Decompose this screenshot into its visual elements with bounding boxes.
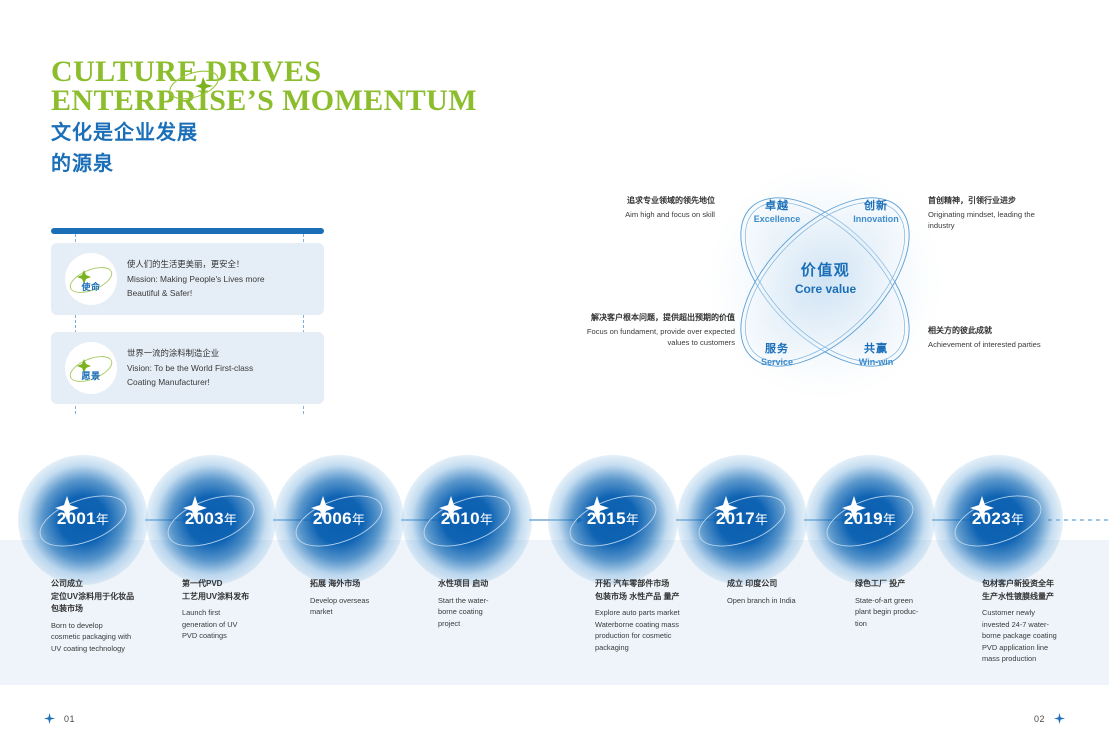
title-chinese-line-2: 的源泉 <box>51 152 477 177</box>
timeline-desc-2003: 第一代PVD工艺用UV涂料发布 Launch firstgeneration o… <box>182 578 292 642</box>
quadrant-winwin-en: Win-win <box>839 357 913 368</box>
title-chinese-line-1: 文化是企业发展 <box>51 121 477 146</box>
mission-badge-label: 使命 <box>65 280 117 293</box>
quadrant-service-en: Service <box>740 357 814 368</box>
quadrant-innovation-en: Innovation <box>839 214 913 225</box>
timeline-desc-2015-en: Explore auto parts marketWaterborne coat… <box>595 607 717 653</box>
timeline-desc-2019: 绿色工厂 投产 State-of-art greenplant begin pr… <box>855 578 965 629</box>
core-value-center: 价值观 Core value <box>718 259 933 296</box>
vision-card[interactable]: 愿景 世界一流的涂料制造企业 Vision: To be the World F… <box>51 332 324 404</box>
timeline-desc-2001-cn: 公司成立定位UV涂料用于化妆品包装市场 <box>51 578 161 616</box>
mission-card[interactable]: 使命 使人们的生活更美丽，更安全！ Mission: Making People… <box>51 243 324 315</box>
company-timeline: 2001年 2003年 2006年 2010年 <box>0 455 1109 585</box>
timeline-year-2017: 2017年 <box>677 509 807 529</box>
note-bottom-right-cn: 相关方的彼此成就 <box>928 325 1073 337</box>
mission-text: 使人们的生活更美丽，更安全！ Mission: Making People's … <box>127 257 265 301</box>
timeline-node-2015[interactable]: 2015年 <box>548 455 678 585</box>
timeline-node-2017[interactable]: 2017年 <box>677 455 807 585</box>
timeline-node-2019[interactable]: 2019年 <box>805 455 935 585</box>
mission-text-en-1: Mission: Making People's Lives more <box>127 272 265 287</box>
quadrant-excellence: 卓越 Excellence <box>740 200 814 225</box>
quadrant-innovation-cn: 创新 <box>839 200 913 214</box>
timeline-desc-2019-cn: 绿色工厂 投产 <box>855 578 965 591</box>
timeline-desc-2006-en: Develop overseasmarket <box>310 595 420 618</box>
page-footer: 01 02 <box>0 685 1109 755</box>
timeline-desc-2017: 成立 印度公司 Open branch in India <box>727 578 837 606</box>
timeline-desc-2023: 包材客户新投资全年生产水性镀膜线量产 Customer newlyinveste… <box>982 578 1092 665</box>
quadrant-winwin: 共赢 Win-win <box>839 343 913 368</box>
quadrant-innovation: 创新 Innovation <box>839 200 913 225</box>
timeline-year-2015: 2015年 <box>548 509 678 529</box>
timeline-desc-2003-en: Launch firstgeneration of UVPVD coatings <box>182 607 292 642</box>
timeline-desc-2015: 开拓 汽车零部件市场包装市场 水性产品 量产 Explore auto part… <box>595 578 717 653</box>
vision-text-en-1: Vision: To be the World First-class <box>127 361 253 376</box>
quadrant-service-cn: 服务 <box>740 343 814 357</box>
quadrant-excellence-cn: 卓越 <box>740 200 814 214</box>
timeline-desc-2006: 拓展 海外市场 Develop overseasmarket <box>310 578 420 618</box>
note-top-left-cn: 追求专业领域的领先地位 <box>585 195 715 207</box>
note-bottom-left-en: Focus on fundament, provide over expecte… <box>587 327 735 348</box>
page-title: CULTURE DRIVES ENTERPRISE’S MOMENTUM 文化是… <box>51 57 477 177</box>
vision-orbit-icon: 愿景 <box>65 342 117 394</box>
timeline-desc-2017-en: Open branch in India <box>727 595 837 607</box>
timeline-desc-2023-en: Customer newlyinvested 24-7 water-borne … <box>982 607 1092 665</box>
footer-page-left: 01 <box>64 714 75 724</box>
note-bottom-right-en: Achievement of interested parties <box>928 340 1041 349</box>
note-top-left: 追求专业领域的领先地位 Aim high and focus on skill <box>585 195 715 220</box>
note-bottom-left-cn: 解决客户根本问题，提供超出预期的价值 <box>570 312 735 324</box>
timeline-desc-2023-cn: 包材客户新投资全年生产水性镀膜线量产 <box>982 578 1092 603</box>
timeline-desc-2001: 公司成立定位UV涂料用于化妆品包装市场 Born to developcosme… <box>51 578 161 654</box>
timeline-desc-2017-cn: 成立 印度公司 <box>727 578 837 591</box>
timeline-year-2003: 2003年 <box>146 509 276 529</box>
timeline-node-2010[interactable]: 2010年 <box>402 455 532 585</box>
sparkle-bullet-icon <box>44 713 55 724</box>
sparkle-orbit-icon <box>166 64 224 111</box>
sparkle-bullet-icon <box>1054 713 1065 724</box>
timeline-desc-2001-en: Born to developcosmetic packaging withUV… <box>51 620 161 655</box>
note-top-right-en: Originating mindset, leading the industr… <box>928 210 1035 231</box>
timeline-desc-2019-en: State-of-art greenplant begin produc-tio… <box>855 595 965 630</box>
timeline-node-2023[interactable]: 2023年 <box>933 455 1063 585</box>
timeline-node-2001[interactable]: 2001年 <box>18 455 148 585</box>
vision-badge-label: 愿景 <box>65 369 117 382</box>
footer-right: 02 <box>1034 713 1065 724</box>
brochure-page: CULTURE DRIVES ENTERPRISE’S MOMENTUM 文化是… <box>0 0 1109 755</box>
title-english-line-2: ENTERPRISE’S MOMENTUM <box>51 86 477 115</box>
timeline-year-2010: 2010年 <box>402 509 532 529</box>
timeline-year-2006: 2006年 <box>274 509 404 529</box>
core-value-center-cn: 价值观 <box>718 259 933 280</box>
timeline-node-2003[interactable]: 2003年 <box>146 455 276 585</box>
timeline-year-2001: 2001年 <box>18 509 148 529</box>
timeline-desc-2003-cn: 第一代PVD工艺用UV涂料发布 <box>182 578 292 603</box>
timeline-node-2006[interactable]: 2006年 <box>274 455 404 585</box>
mission-text-en-2: Beautiful & Safer! <box>127 286 265 301</box>
quadrant-excellence-en: Excellence <box>740 214 814 225</box>
panel-top-bar <box>51 228 324 234</box>
note-bottom-right: 相关方的彼此成就 Achievement of interested parti… <box>928 325 1073 350</box>
footer-page-right: 02 <box>1034 714 1045 724</box>
title-english-line-1: CULTURE DRIVES <box>51 57 477 86</box>
vision-text-cn: 世界一流的涂料制造企业 <box>127 346 253 361</box>
note-top-left-en: Aim high and focus on skill <box>625 210 715 219</box>
vision-text: 世界一流的涂料制造企业 Vision: To be the World Firs… <box>127 346 253 390</box>
footer-left: 01 <box>44 713 75 724</box>
timeline-year-2019: 2019年 <box>805 509 935 529</box>
quadrant-winwin-cn: 共赢 <box>839 343 913 357</box>
core-value-labels: 卓越 Excellence 创新 Innovation 服务 Service 共… <box>718 175 933 390</box>
note-top-right: 首创精神，引领行业进步 Originating mindset, leading… <box>928 195 1063 232</box>
timeline-desc-2010-en: Start the water-borne coatingproject <box>438 595 548 630</box>
vision-text-en-2: Coating Manufacturer! <box>127 375 253 390</box>
note-bottom-left: 解决客户根本问题，提供超出预期的价值 Focus on fundament, p… <box>570 312 735 349</box>
mission-orbit-icon: 使命 <box>65 253 117 305</box>
timeline-desc-2015-cn: 开拓 汽车零部件市场包装市场 水性产品 量产 <box>595 578 717 603</box>
timeline-desc-2006-cn: 拓展 海外市场 <box>310 578 420 591</box>
mission-vision-panel: 使命 使人们的生活更美丽，更安全！ Mission: Making People… <box>51 228 324 404</box>
core-value-center-en: Core value <box>718 282 933 296</box>
timeline-year-2023: 2023年 <box>933 509 1063 529</box>
timeline-desc-2010: 水性项目 启动 Start the water-borne coatingpro… <box>438 578 548 629</box>
mission-text-cn: 使人们的生活更美丽，更安全！ <box>127 257 265 272</box>
timeline-desc-2010-cn: 水性项目 启动 <box>438 578 548 591</box>
quadrant-service: 服务 Service <box>740 343 814 368</box>
note-top-right-cn: 首创精神，引领行业进步 <box>928 195 1063 207</box>
